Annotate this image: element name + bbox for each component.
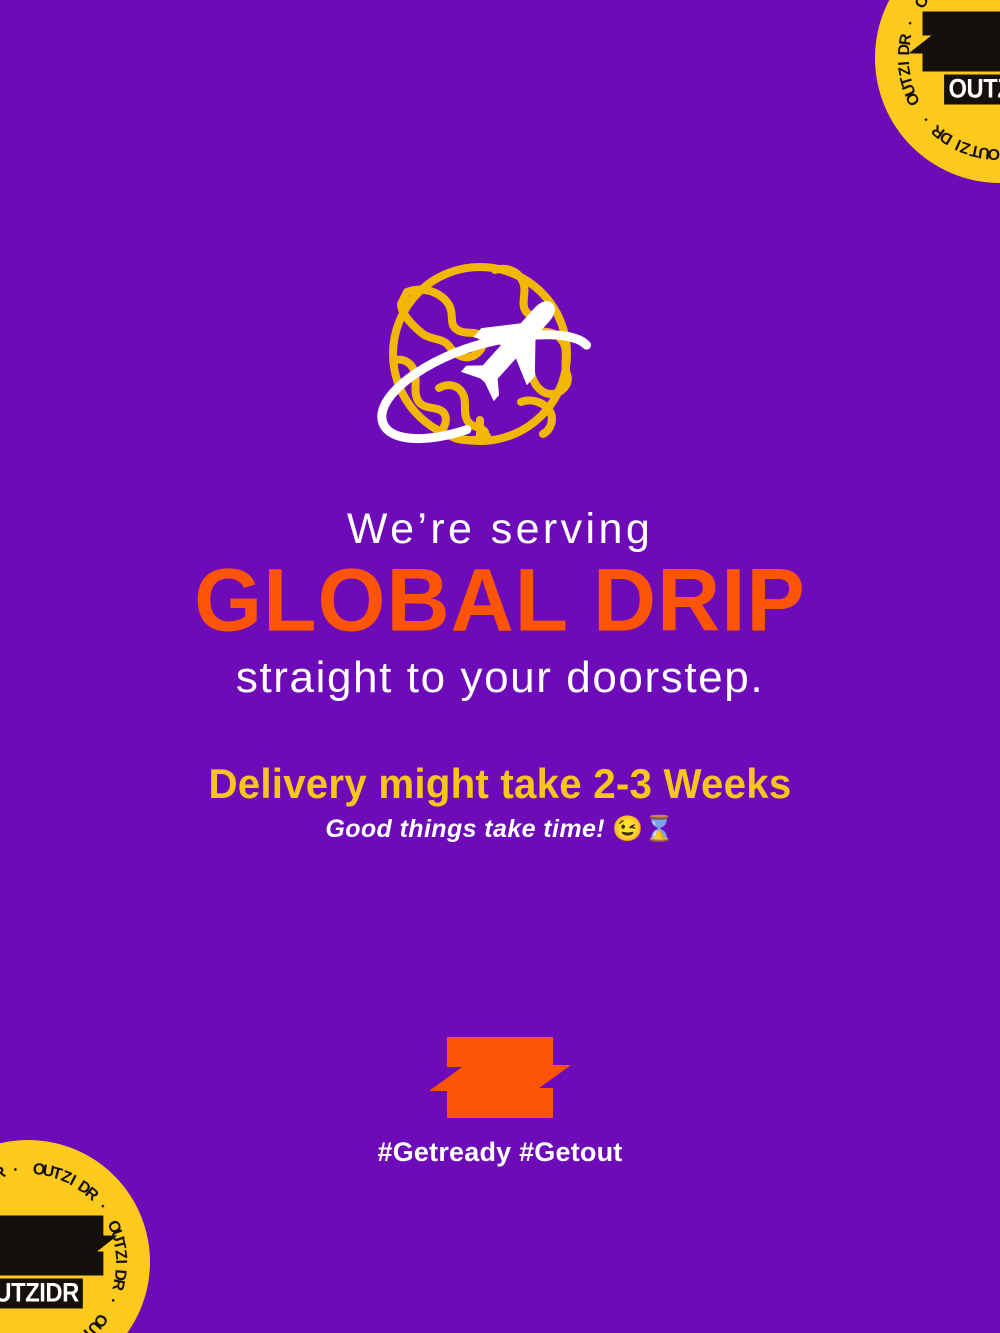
seal-core-top-right: OUTZIDR: [923, 12, 1000, 105]
copy-headline: GLOBAL DRIP: [0, 556, 1000, 645]
brand-tagline: #Getready #Getout: [378, 1139, 623, 1166]
globe-with-airplane-icon: [335, 252, 665, 478]
seal-wordmark: OUTZIDR: [0, 1279, 84, 1309]
delivery-time-text: Delivery might take 2-3 Weeks: [20, 762, 980, 807]
seal-wordmark: OUTZIDR: [944, 75, 1000, 105]
wink-hourglass-emoji: 😉⌛: [612, 815, 674, 843]
hero-illustration: [0, 252, 1000, 478]
z-mark-icon: [0, 1216, 104, 1276]
outzidr-seal-top-right: OUTZIDR·OUTZIDR·OUTZIDR·OUTZIDR·OUTZIDR·…: [875, 0, 1000, 183]
copy-kicker: We’re serving: [0, 506, 1000, 552]
z-mark-icon: [923, 12, 1000, 72]
outzidr-seal-bottom-left: OUTZIDR·OUTZIDR·OUTZIDR·OUTZIDR·OUTZIDR·…: [0, 1140, 150, 1333]
copy-subline: straight to your doorstep.: [0, 654, 1000, 702]
seal-core-bottom-left: OUTZIDR: [0, 1216, 104, 1309]
brand-lockup: #Getready #Getout: [0, 1037, 1000, 1166]
delivery-note: Good things take time! 😉⌛: [0, 816, 1000, 844]
hero-copy: We’re serving GLOBAL DRIP straight to yo…: [0, 506, 1000, 702]
z-logo-icon: [447, 1037, 553, 1118]
delivery-promise: Delivery might take 2-3 Weeks Good thing…: [0, 762, 1000, 843]
delivery-note-text: Good things take time!: [325, 815, 605, 843]
